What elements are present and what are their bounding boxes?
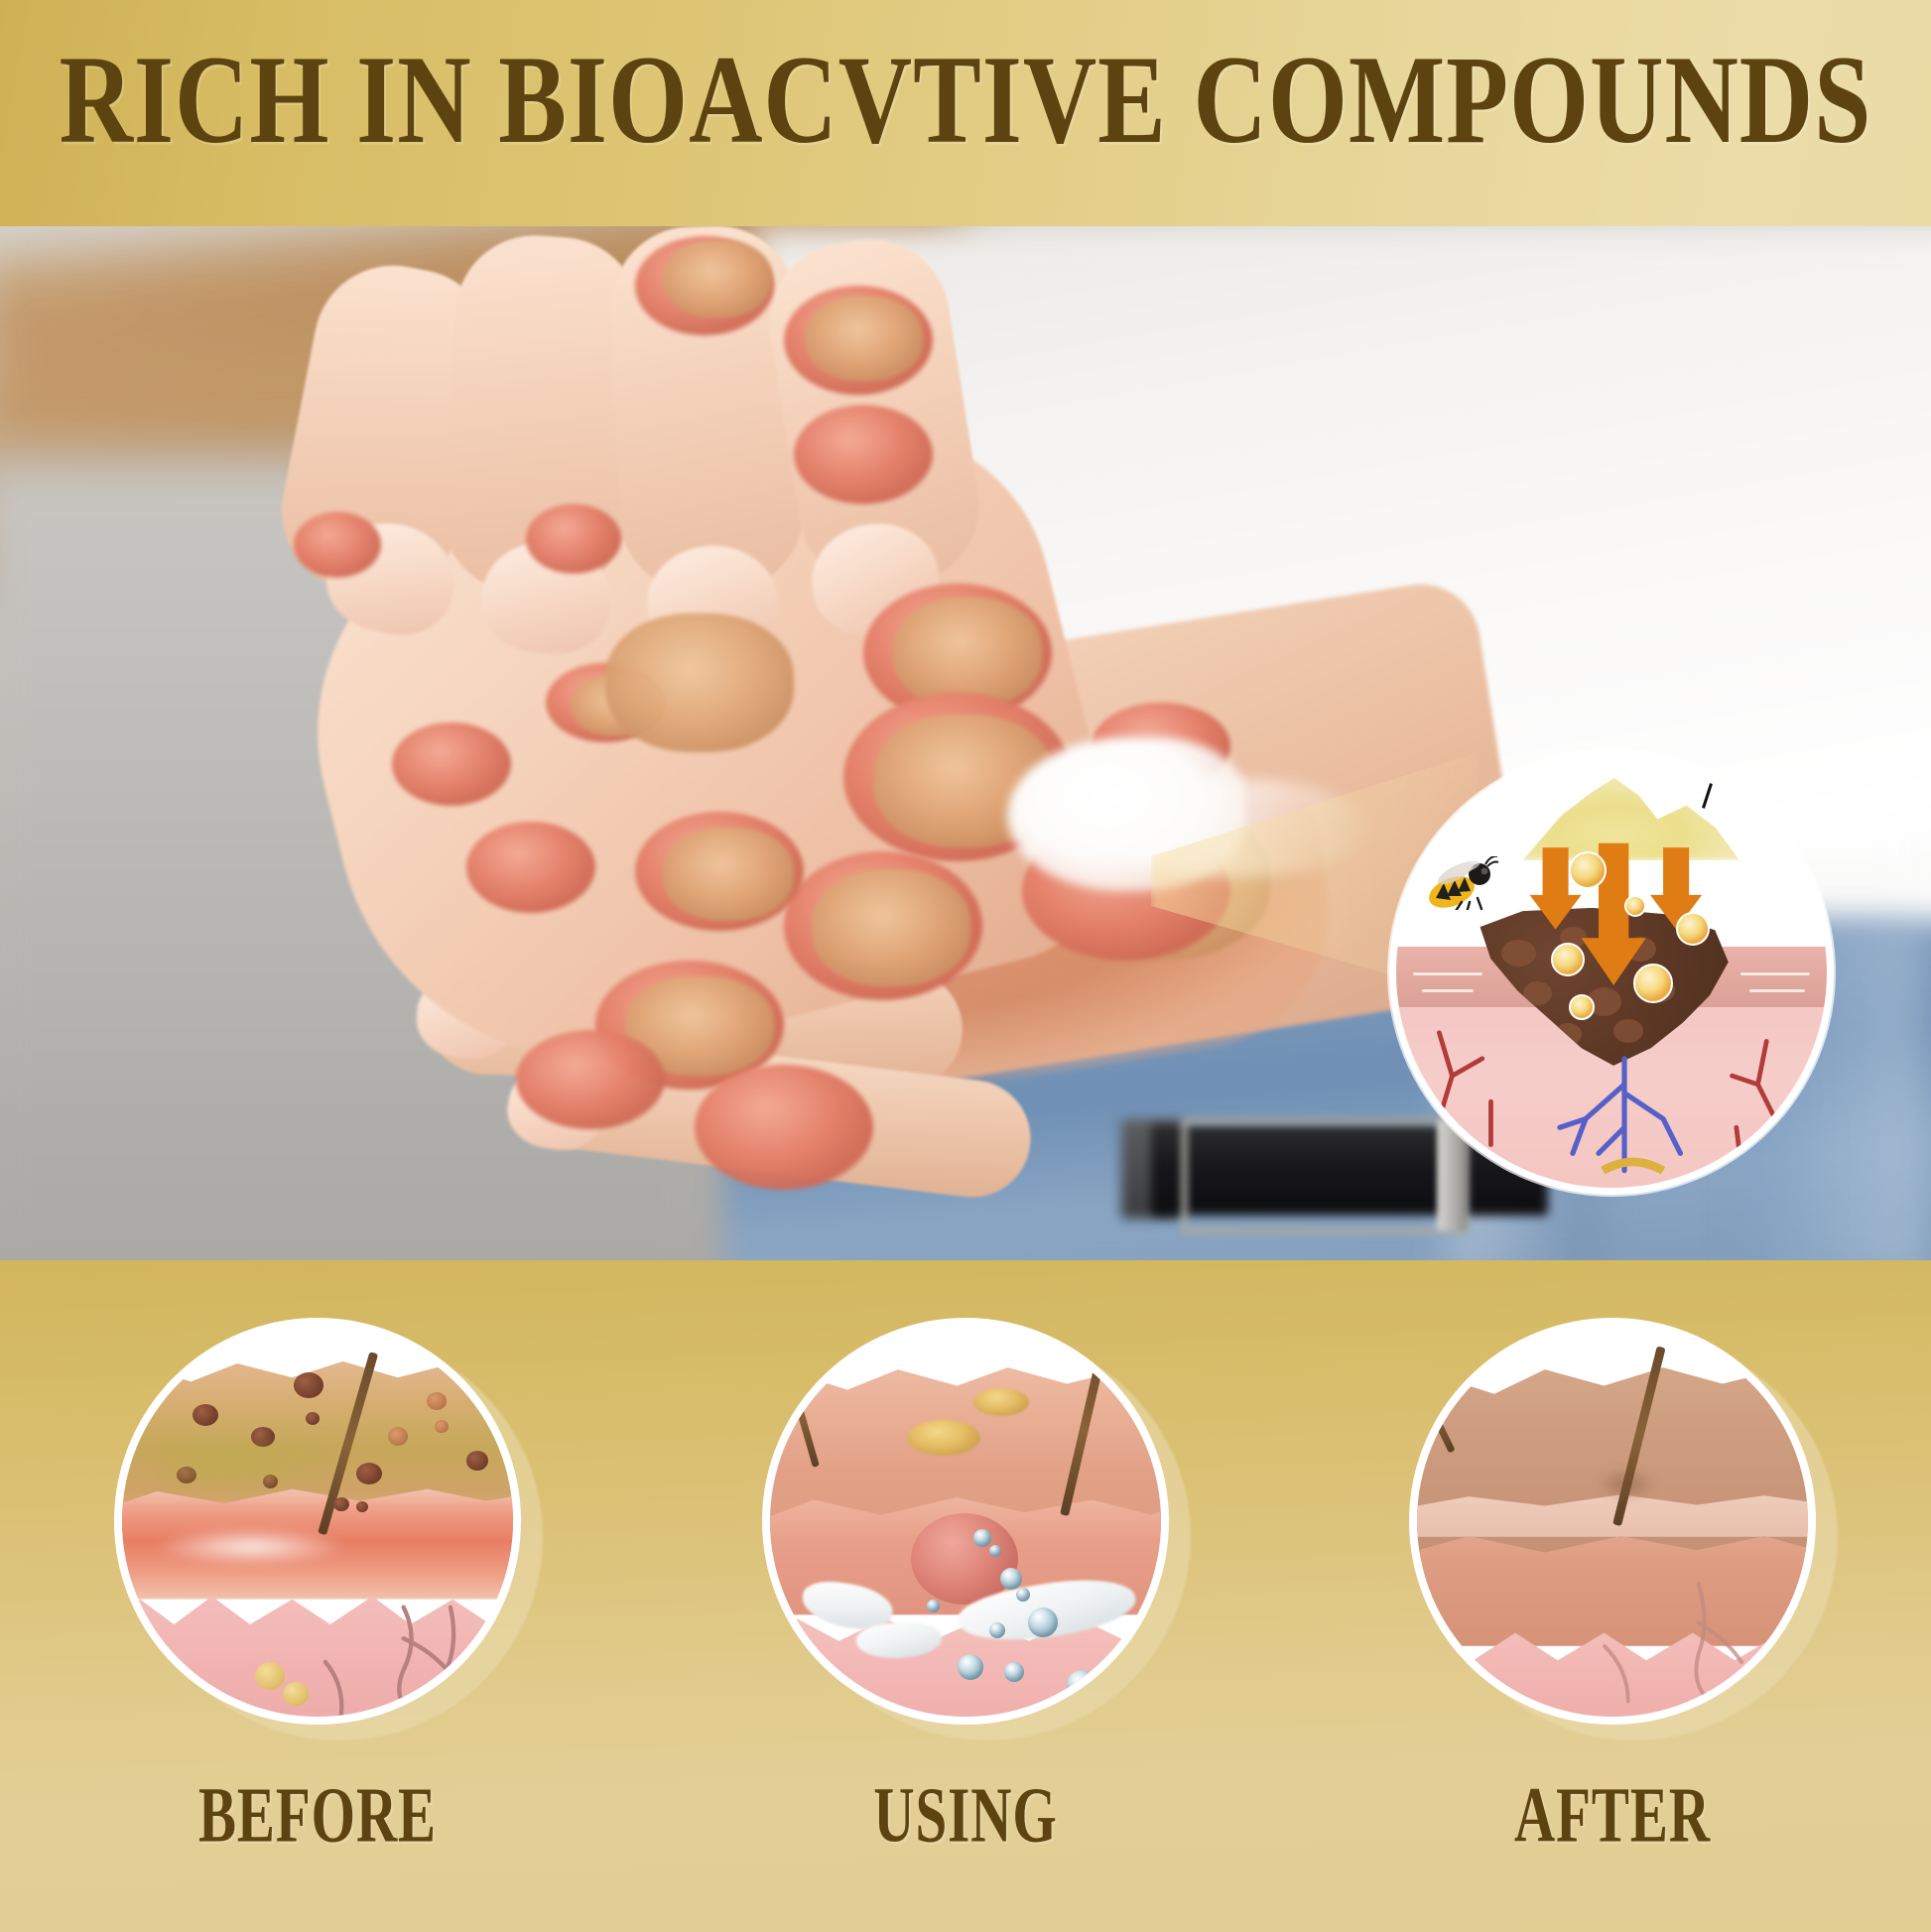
step-using-illustration: [762, 1318, 1169, 1725]
page-title: RICH IN BIOACVTIVE COMPOUNDS: [10, 38, 1922, 164]
step-labels-row: BEFORE USING AFTER: [0, 1776, 1931, 1895]
cream-bubble: [1028, 1608, 1058, 1637]
step-after[interactable]: [1409, 1318, 1816, 1725]
fat-globule: [255, 1662, 285, 1690]
cream-bubble: [989, 1545, 1001, 1557]
label-after: AFTER: [1356, 1776, 1867, 1855]
fat-globule: [283, 1682, 309, 1706]
skin-scale: [605, 613, 794, 752]
header-band: RICH IN BIOACVTIVE COMPOUNDS: [0, 0, 1931, 226]
step-after-illustration: [1409, 1318, 1816, 1725]
skin-scale: [893, 597, 1042, 708]
skin-lesion: [526, 504, 621, 574]
healing-crust: [907, 1420, 980, 1456]
skin-lesion: [695, 1065, 873, 1190]
product-infographic-poster: RICH IN BIOACVTIVE COMPOUNDS: [0, 0, 1931, 1932]
skin-scale: [812, 869, 970, 986]
step-circles-row: [0, 1318, 1931, 1754]
skin-penetration-diagram: [1389, 750, 1834, 1195]
cream-bubble: [927, 1600, 940, 1612]
skin-scale: [806, 296, 923, 381]
cream-bubble: [989, 1622, 1005, 1638]
healing-crust: [973, 1388, 1029, 1416]
skin-lesion: [466, 822, 595, 913]
label-using: USING: [709, 1776, 1221, 1855]
blood-vessel-icon: [1396, 757, 1827, 1188]
capillary-network: [1417, 1326, 1808, 1717]
step-before[interactable]: [114, 1318, 521, 1725]
cream-bubble: [1067, 1670, 1096, 1700]
skin-lesion: [294, 512, 381, 578]
step-before-illustration: [114, 1318, 521, 1725]
step-using[interactable]: [762, 1318, 1169, 1725]
tagline: Breakdown abnormal Tissue: [62, 1240, 583, 1260]
skin-lesion: [516, 1030, 665, 1129]
hero-photo: Breakdown abnormal Tissue: [0, 226, 1931, 1260]
cream-bubble: [958, 1654, 983, 1680]
cream-bubble: [973, 1529, 991, 1547]
skin-lesion: [794, 405, 933, 504]
capillary-network: [122, 1326, 513, 1717]
skin-scale: [663, 240, 772, 318]
before-using-after-section: BEFORE USING AFTER: [0, 1260, 1931, 1932]
label-before: BEFORE: [62, 1776, 573, 1855]
skin-scale: [663, 828, 794, 921]
skin-lesion: [392, 722, 511, 806]
